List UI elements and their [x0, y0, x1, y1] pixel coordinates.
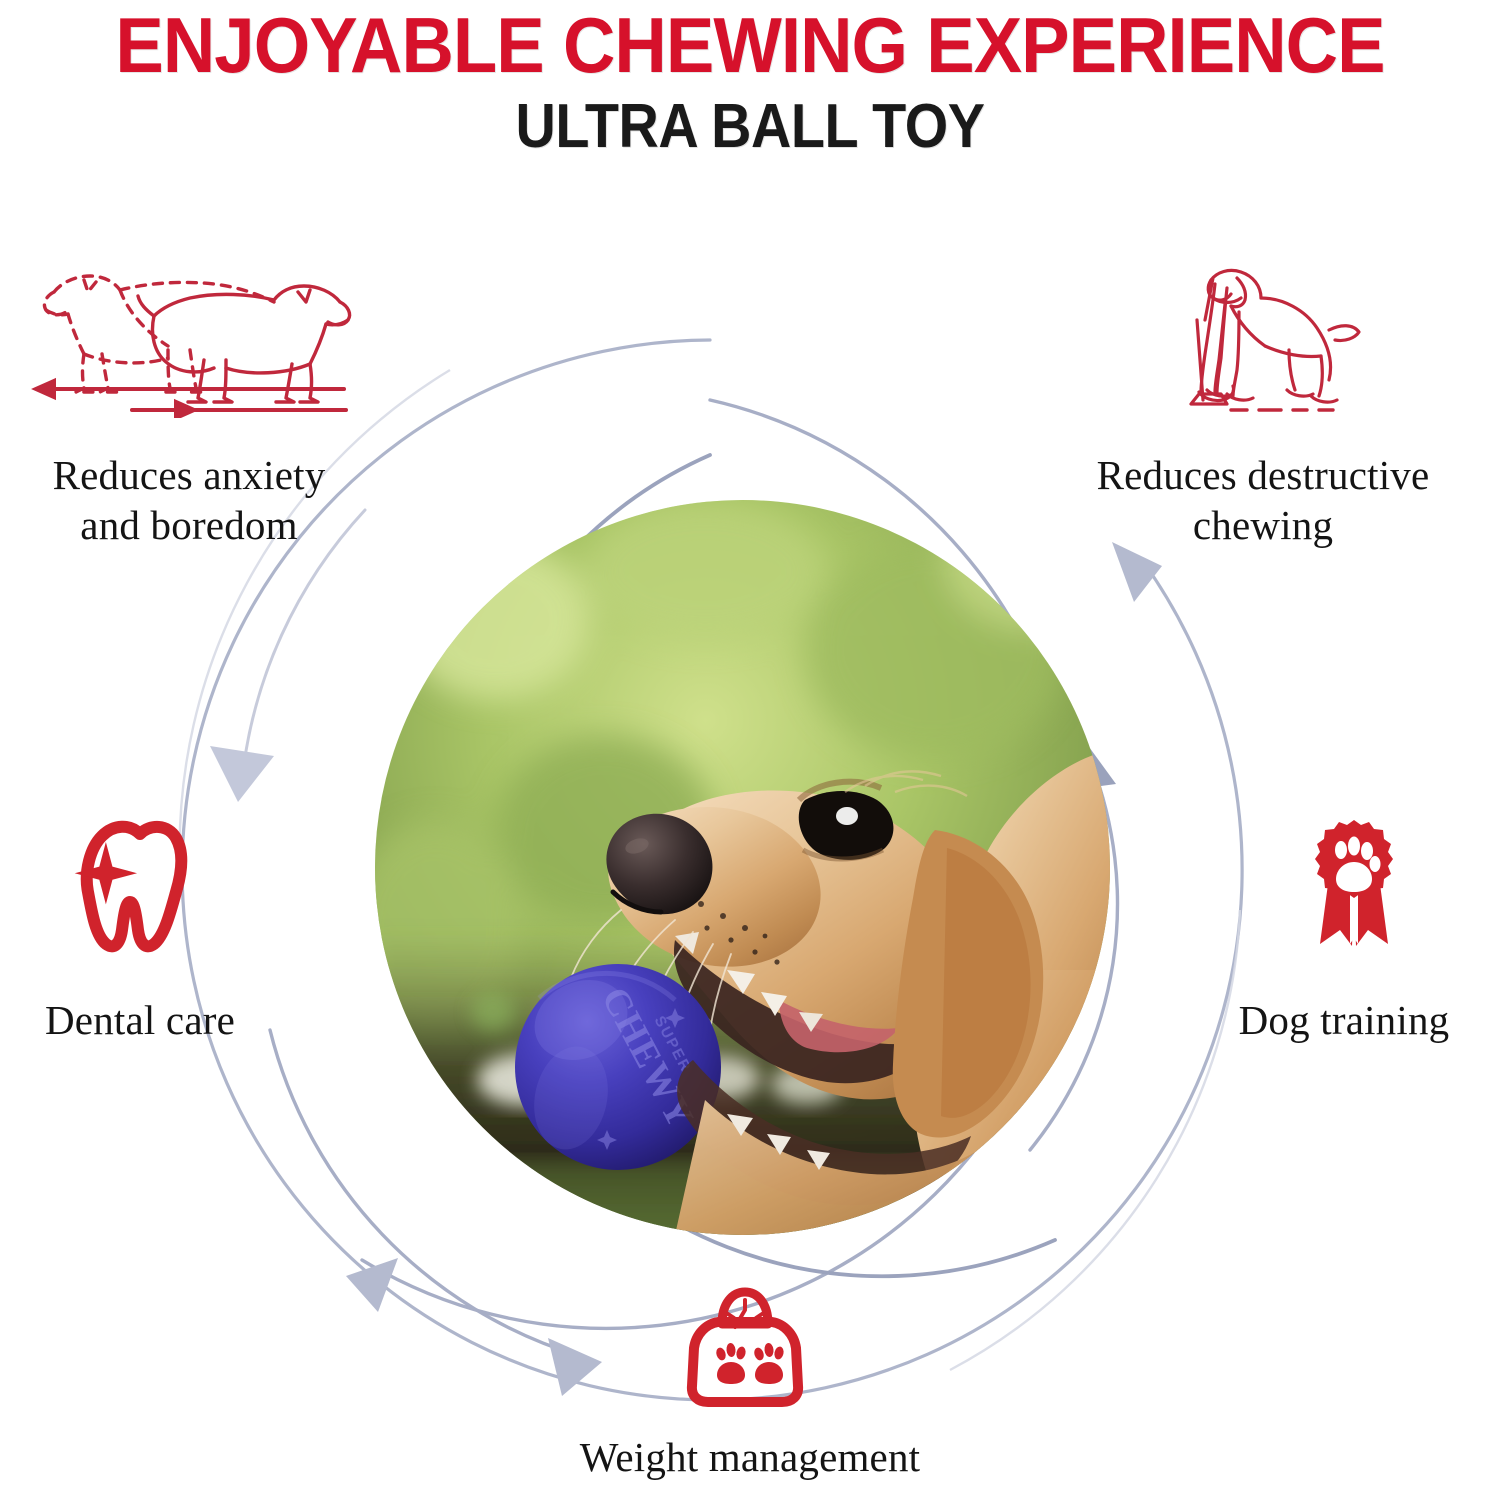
center-product-photo: SUPER CHEWY — [375, 500, 1110, 1235]
infographic-stage: ENJOYABLE CHEWING EXPERIENCE ULTRA BALL … — [0, 0, 1500, 1500]
page-title: ENJOYABLE CHEWING EXPERIENCE ULTRA BALL … — [0, 0, 1500, 158]
tooth-sparkle-icon — [70, 818, 190, 958]
feature-label-weight-line1: Weight management — [0, 1432, 1500, 1482]
feature-label-training: Dog training — [1194, 995, 1494, 1045]
feature-label-destructive-line2: chewing — [1028, 500, 1498, 550]
feature-label-destructive-line1: Reduces destructive — [1028, 450, 1498, 500]
dog-chewing-furniture-icon — [1165, 258, 1365, 418]
paw-scale-icon — [680, 1280, 810, 1410]
headline-primary: ENJOYABLE CHEWING EXPERIENCE — [53, 6, 1448, 84]
award-ribbon-paw-icon — [1300, 818, 1408, 948]
two-dogs-walking-icon — [28, 258, 358, 418]
feature-label-anxiety-line2: and boredom — [0, 500, 384, 550]
feature-label-dental-line1: Dental care — [0, 995, 280, 1045]
headline-secondary: ULTRA BALL TOY — [75, 96, 1425, 158]
feature-label-dental: Dental care — [0, 995, 280, 1045]
ring-arrowhead-outer — [1112, 542, 1162, 602]
dog-with-ball-illustration: SUPER CHEWY — [375, 500, 1110, 1235]
feature-label-training-line1: Dog training — [1194, 995, 1494, 1045]
feature-label-anxiety-line1: Reduces anxiety — [0, 450, 384, 500]
feature-label-destructive: Reduces destructive chewing — [1028, 450, 1498, 550]
ring-arrowhead-left — [210, 746, 274, 802]
feature-label-weight: Weight management — [0, 1432, 1500, 1482]
feature-label-anxiety: Reduces anxiety and boredom — [0, 450, 384, 550]
